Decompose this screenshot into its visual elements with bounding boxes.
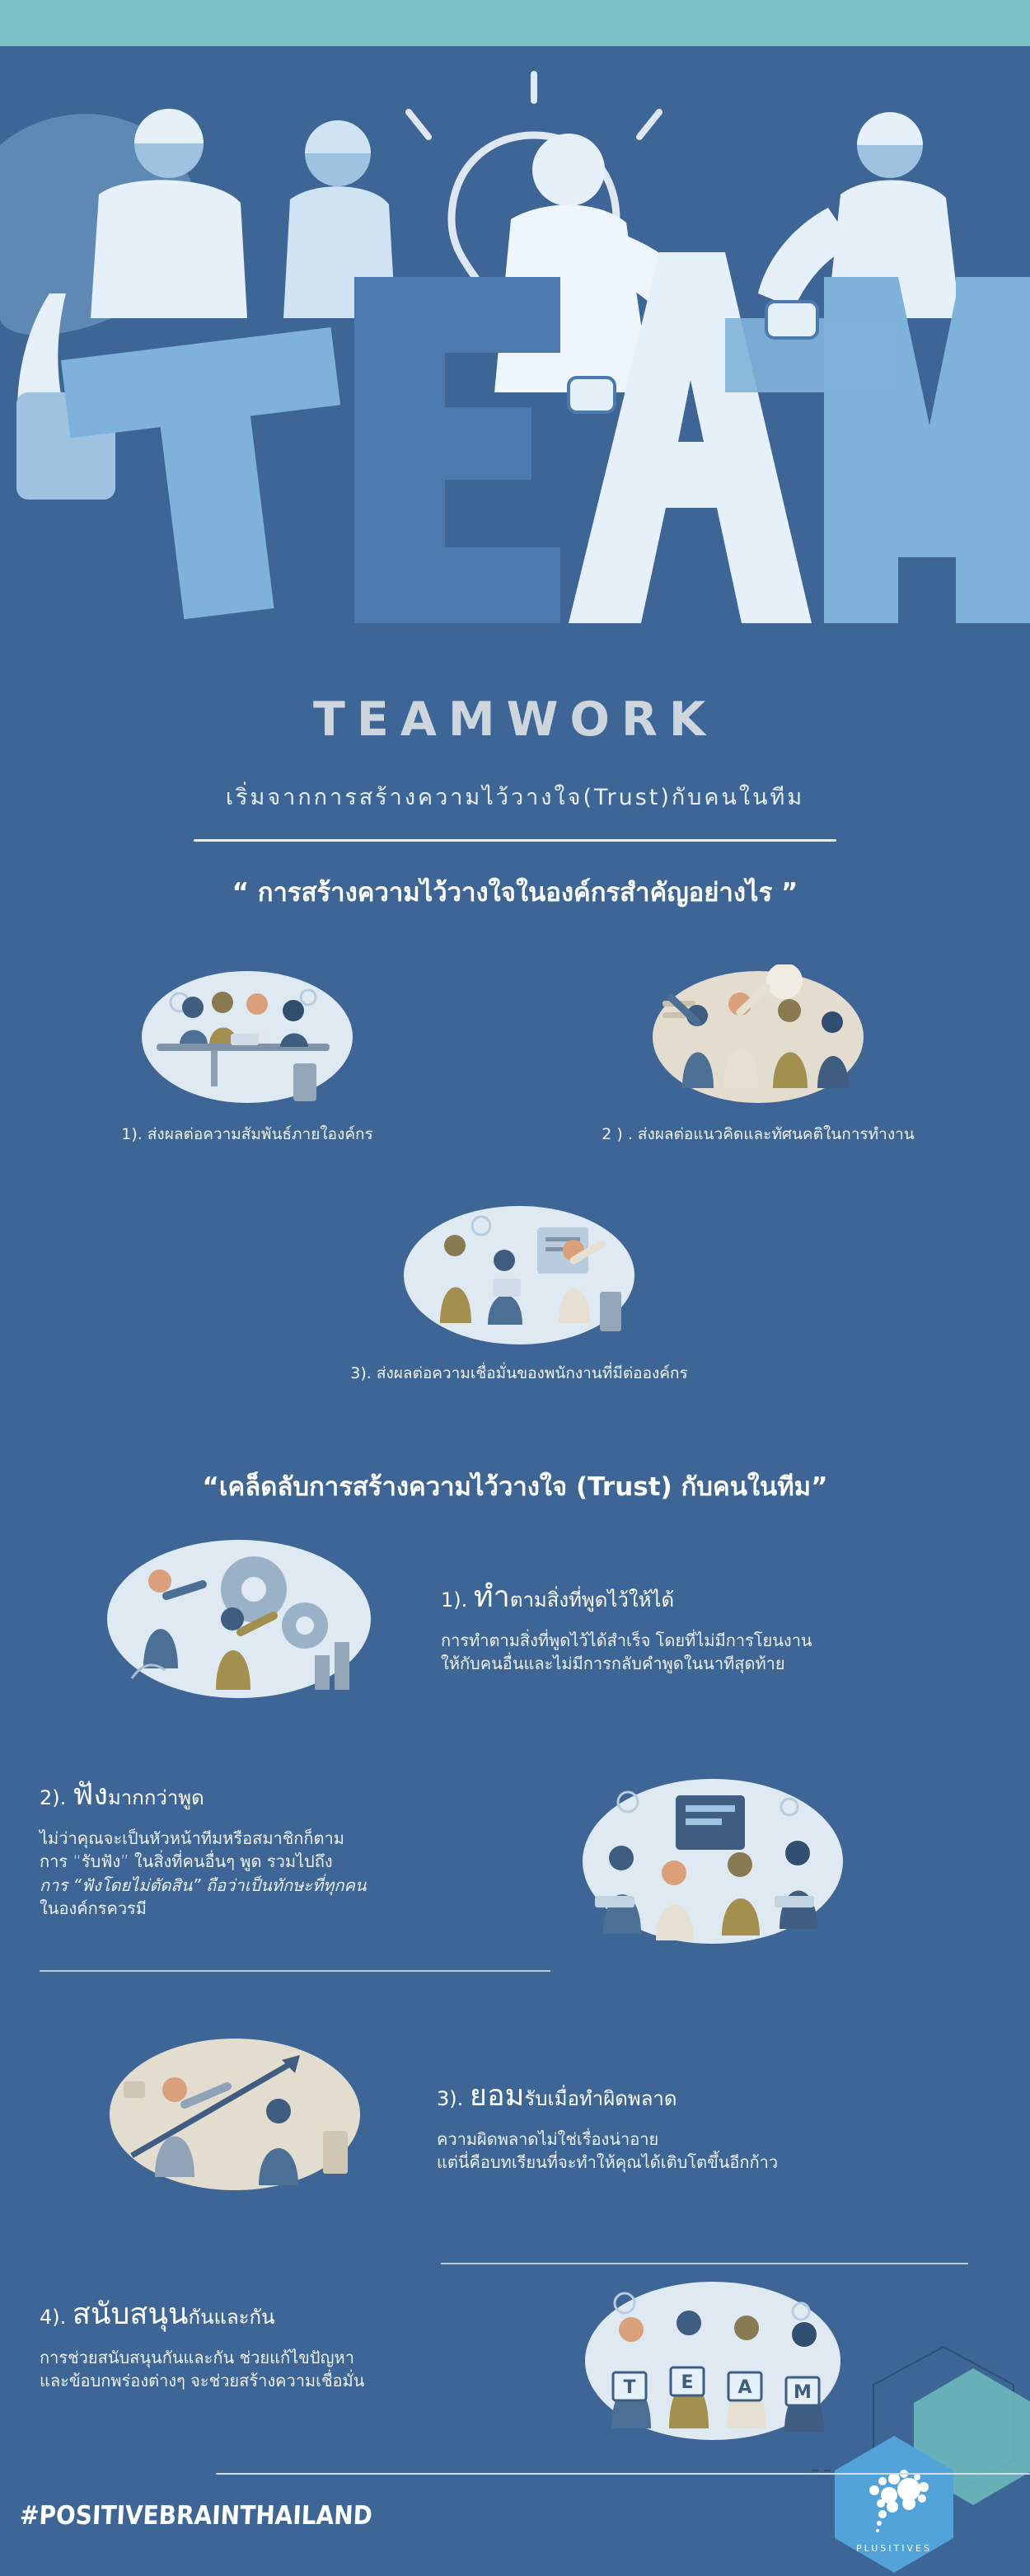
tip-4-number: 4).: [40, 2306, 66, 2329]
footer-divider: [216, 2473, 1030, 2475]
tip-divider-2: [441, 2263, 968, 2264]
tip-3-keyword: ยอม: [470, 2079, 524, 2113]
meeting-table-illustration: [132, 964, 363, 1117]
gears-teamwork-illustration: [99, 1533, 379, 1710]
svg-text:M: M: [794, 2382, 812, 2403]
letter-E: [354, 277, 560, 623]
tip-4-body-line-2: และข้อบกพร่องต่างๆ จะช่วยสร้างความเชื่อม…: [40, 2369, 550, 2392]
logo-text: PLUSITIVES: [856, 2543, 932, 2554]
tip-1-body-line-2: ให้กับคนอื่นและไม่มีการกลับคำพูดในนาทีสุ…: [441, 1652, 985, 1675]
svg-text:A: A: [737, 2377, 751, 2398]
tip-2-number: 2).: [40, 1786, 66, 1809]
reason-caption-2: 2 ) . ส่งผลต่อแนวคิดและทัศนคติในการทำงาน: [511, 1122, 1005, 1147]
tip-2-body-line-2: การ “รับฟัง” ในสิ่งที่คนอื่นๆ พูด รวมไปถ…: [40, 1850, 550, 1873]
svg-text:E: E: [681, 2372, 693, 2393]
team-letters-hero-svg: [0, 46, 1030, 673]
svg-text:T: T: [623, 2377, 635, 2398]
section-1-heading: “ การสร้างความไว้วางใจในองค์กรสำคัญอย่าง…: [0, 871, 1030, 913]
tip-4: 4). สนับสนุนกันและกัน การช่วยสนับสนุนกัน…: [40, 2296, 550, 2393]
top-accent-bar: [0, 0, 1030, 46]
reason-item-3: 3). ส่งผลต่อความเชื่อมั่นของพนักงานที่มี…: [247, 1199, 791, 1386]
tip-2-body: ไม่ว่าคุณจะเป็นหัวหน้าทีมหรือสมาชิกก็ตาม…: [40, 1827, 550, 1921]
tip-2-body-line-3: การ “ฟังโดยไม่ตัดสิน” ถือว่าเป็นทักษะที่…: [40, 1874, 550, 1897]
tip-1-title: 1). ทำตามสิ่งที่พูดไว้ให้ได้: [441, 1579, 985, 1616]
tip-divider-1: [40, 1970, 550, 1972]
tip-3-title-rest: รับเมื่อทำผิดพลาด: [524, 2087, 677, 2110]
section-2-heading: “เคล็ดลับการสร้างความไว้วางใจ (Trust) กั…: [0, 1466, 1030, 1507]
logo-hexagons-svg: PLUSITIVES: [812, 2345, 1030, 2576]
team-letters-illustration: TEAM: [577, 2275, 849, 2452]
tip-2: 2). ฟังมากกว่าพูด ไม่ว่าคุณจะเป็นหัวหน้า…: [40, 1776, 550, 1921]
tip-1-title-rest: ตามสิ่งที่พูดไว้ให้ได้: [510, 1588, 674, 1612]
presentation-illustration: [396, 1199, 643, 1356]
telescope-growth-illustration: [99, 2032, 371, 2205]
infographic-page: TEAMWORK เริ่มจากการสร้างความไว้วางใจ(Tr…: [0, 0, 1030, 2576]
tip-3-number: 3).: [437, 2087, 463, 2110]
tip-1-keyword: ทำ: [474, 1580, 510, 1614]
page-subtitle: เริ่มจากการสร้างความไว้วางใจ(Trust)กับคน…: [0, 779, 1030, 814]
celebrating-team-illustration: [643, 964, 873, 1117]
tip-4-body-line-1: การช่วยสนับสนุนกันและกัน ช่วยแก้ไขปัญหา: [40, 2346, 550, 2369]
tip-1-number: 1).: [441, 1588, 467, 1612]
tip-3: 3). ยอมรับเมื่อทำผิดพลาด ความผิดพลาดไม่ใ…: [437, 2077, 981, 2175]
tip-2-keyword: ฟัง: [73, 1778, 108, 1812]
reason-item-1: 1). ส่งผลต่อความสัมพันธ์ภายใองค์กร: [33, 964, 461, 1147]
hero-illustration: [0, 46, 1030, 673]
title-divider: [194, 839, 836, 842]
tip-4-body: การช่วยสนับสนุนกันและกัน ช่วยแก้ไขปัญหา …: [40, 2346, 550, 2393]
tip-3-body-line-2: แต่นี่คือบทเรียนที่จะทำให้คุณได้เติบโตขึ…: [437, 2151, 981, 2174]
brand-logo: PLUSITIVES: [812, 2345, 1030, 2576]
tip-2-body-line-1: ไม่ว่าคุณจะเป็นหัวหน้าทีมหรือสมาชิกก็ตาม: [40, 1827, 550, 1850]
tip-3-body: ความผิดพลาดไม่ใช่เรื่องน่าอาย แต่นี่คือบ…: [437, 2128, 981, 2175]
tip-4-keyword: สนับสนุน: [73, 2297, 189, 2331]
reason-caption-3: 3). ส่งผลต่อความเชื่อมั่นของพนักงานที่มี…: [247, 1361, 791, 1386]
tip-1-body: การทำตามสิ่งที่พูดไว้ได้สำเร็จ โดยที่ไม่…: [441, 1629, 985, 1676]
tip-2-title-rest: มากกว่าพูด: [108, 1786, 204, 1809]
tip-4-title: 4). สนับสนุนกันและกัน: [40, 2296, 550, 2333]
tip-2-title: 2). ฟังมากกว่าพูด: [40, 1776, 550, 1814]
tip-2-body-line-4: ในองค์กรควรมี: [40, 1897, 550, 1920]
tip-1-body-line-1: การทำตามสิ่งที่พูดไว้ได้สำเร็จ โดยที่ไม่…: [441, 1629, 985, 1652]
tip-3-body-line-1: ความผิดพลาดไม่ใช่เรื่องน่าอาย: [437, 2128, 981, 2151]
laptop-discussion-illustration: [577, 1772, 849, 1958]
reason-item-2: 2 ) . ส่งผลต่อแนวคิดและทัศนคติในการทำงาน: [511, 964, 1005, 1147]
tip-3-title: 3). ยอมรับเมื่อทำผิดพลาด: [437, 2077, 981, 2114]
footer-hashtag: #POSITIVEBRAINTHAILAND: [19, 2500, 373, 2531]
tip-1: 1). ทำตามสิ่งที่พูดไว้ให้ได้ การทำตามสิ่…: [441, 1579, 985, 1676]
reason-caption-1: 1). ส่งผลต่อความสัมพันธ์ภายใองค์กร: [33, 1122, 461, 1147]
page-title: TEAMWORK: [0, 697, 1030, 744]
tip-4-title-rest: กันและกัน: [189, 2306, 275, 2329]
